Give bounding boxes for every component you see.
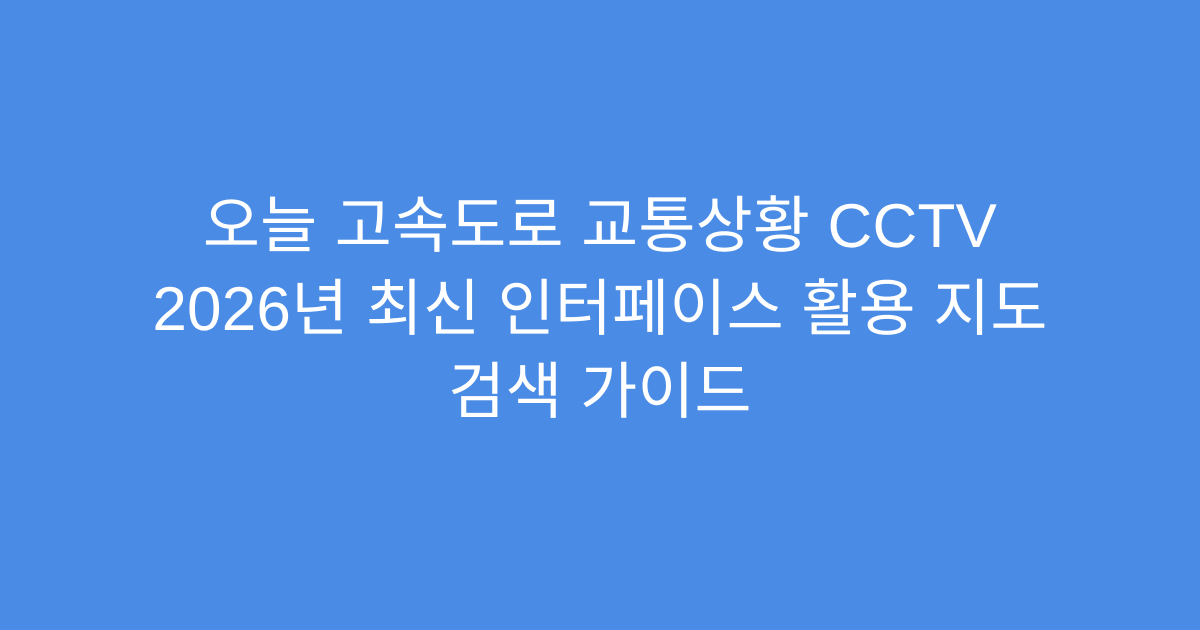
headline-block: 오늘 고속도로 교통상황 CCTV 2026년 최신 인터페이스 활용 지도 검… — [50, 185, 1150, 434]
page-title: 오늘 고속도로 교통상황 CCTV 2026년 최신 인터페이스 활용 지도 검… — [152, 185, 1047, 434]
og-card: 오늘 고속도로 교통상황 CCTV 2026년 최신 인터페이스 활용 지도 검… — [0, 0, 1200, 630]
